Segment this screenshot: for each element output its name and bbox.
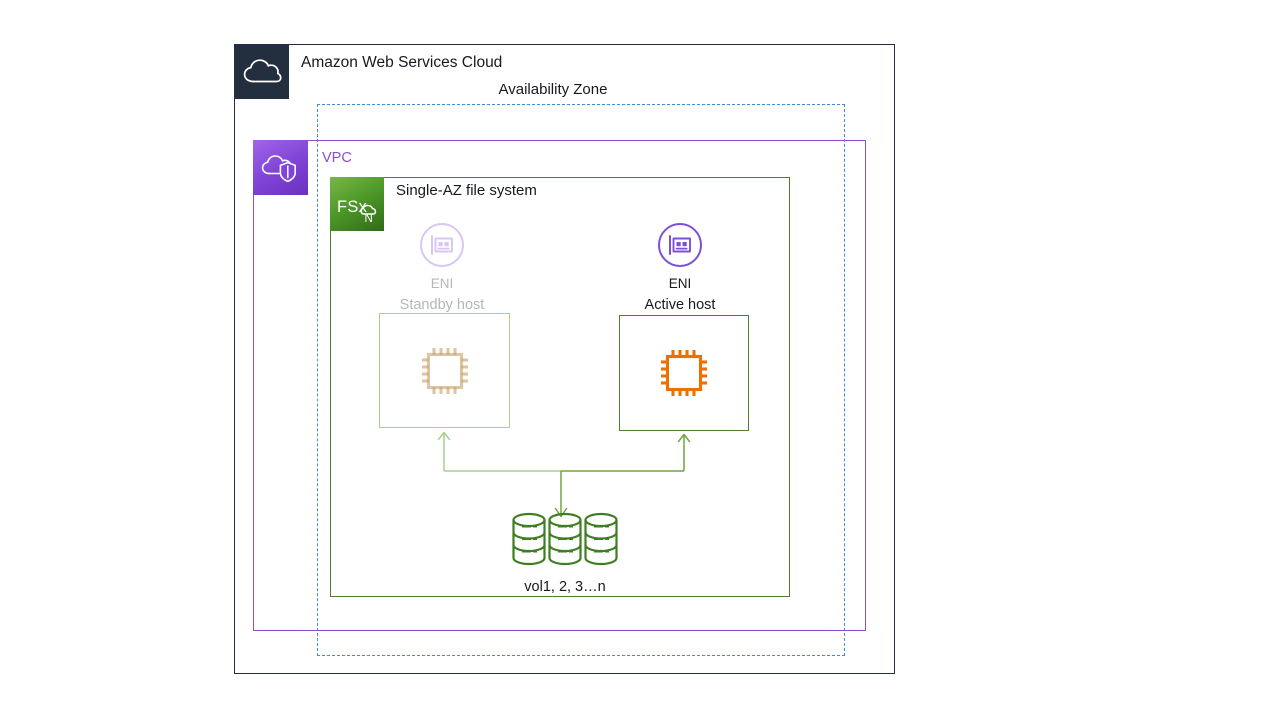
vpc-cloud-shield-icon	[253, 140, 308, 195]
host-label-active: Active host	[628, 297, 732, 313]
availability-zone-title: Availability Zone	[317, 81, 789, 98]
eni-label-standby: ENI	[390, 276, 494, 291]
eni-node-standby: ENI Standby host	[390, 223, 494, 313]
standby-host-box	[379, 313, 510, 428]
host-label-standby: Standby host	[390, 297, 494, 313]
cpu-chip-icon	[414, 340, 476, 402]
active-host-box	[619, 315, 749, 431]
svg-text:N: N	[365, 213, 373, 225]
volume-group: vol1, 2, 3…n	[480, 511, 650, 595]
network-interface-icon	[658, 223, 702, 267]
volume-group-label: vol1, 2, 3…n	[480, 579, 650, 595]
aws-cloud-title: Amazon Web Services Cloud	[301, 54, 502, 72]
eni-label-active: ENI	[628, 276, 732, 291]
vpc-title: VPC	[322, 150, 352, 166]
network-interface-icon	[420, 223, 464, 267]
cpu-chip-icon	[653, 342, 715, 404]
fsx-netapp-ontap-icon: FSx N	[330, 177, 384, 231]
volume-stack-icon	[509, 511, 621, 567]
file-system-title: Single-AZ file system	[396, 182, 537, 199]
aws-cloud-icon	[234, 44, 289, 99]
eni-node-active: ENI Active host	[628, 223, 732, 313]
diagram-canvas: Amazon Web Services Cloud Availability Z…	[0, 0, 1280, 720]
